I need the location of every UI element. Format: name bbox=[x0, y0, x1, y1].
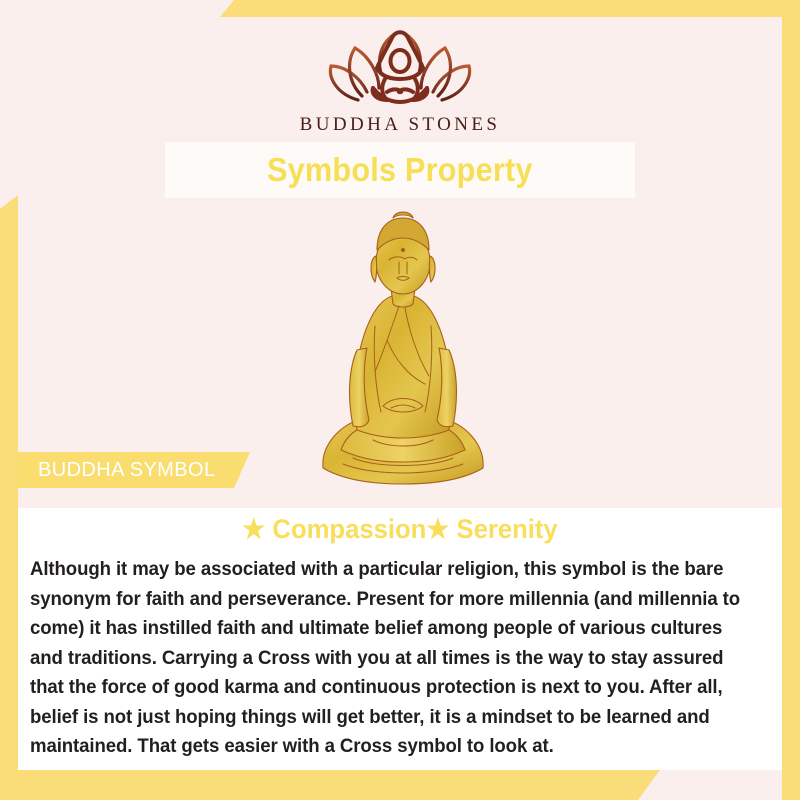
decor-band-left bbox=[0, 195, 18, 800]
brand-header: BUDDHA STONES bbox=[0, 22, 800, 136]
title-banner: Symbols Property bbox=[165, 142, 635, 198]
lotus-meditation-icon bbox=[315, 22, 485, 108]
content-headline: ★ Compassion★ Serenity bbox=[37, 514, 763, 545]
section-tag-label: BUDDHA SYMBOL bbox=[18, 459, 215, 482]
content-panel: ★ Compassion★ Serenity Although it may b… bbox=[18, 508, 782, 770]
page-title: Symbols Property bbox=[267, 151, 533, 189]
section-tag-buddha-symbol: BUDDHA SYMBOL bbox=[18, 452, 250, 488]
content-body-text: Although it may be associated with a par… bbox=[30, 555, 748, 762]
decor-band-top bbox=[220, 0, 800, 17]
brand-name: BUDDHA STONES bbox=[0, 114, 800, 136]
seated-buddha-statue-icon bbox=[313, 200, 493, 492]
decor-band-bottom bbox=[0, 770, 660, 800]
poster-root: BUDDHA STONES Symbols Property bbox=[0, 0, 800, 800]
buddha-statue-image bbox=[313, 200, 493, 492]
